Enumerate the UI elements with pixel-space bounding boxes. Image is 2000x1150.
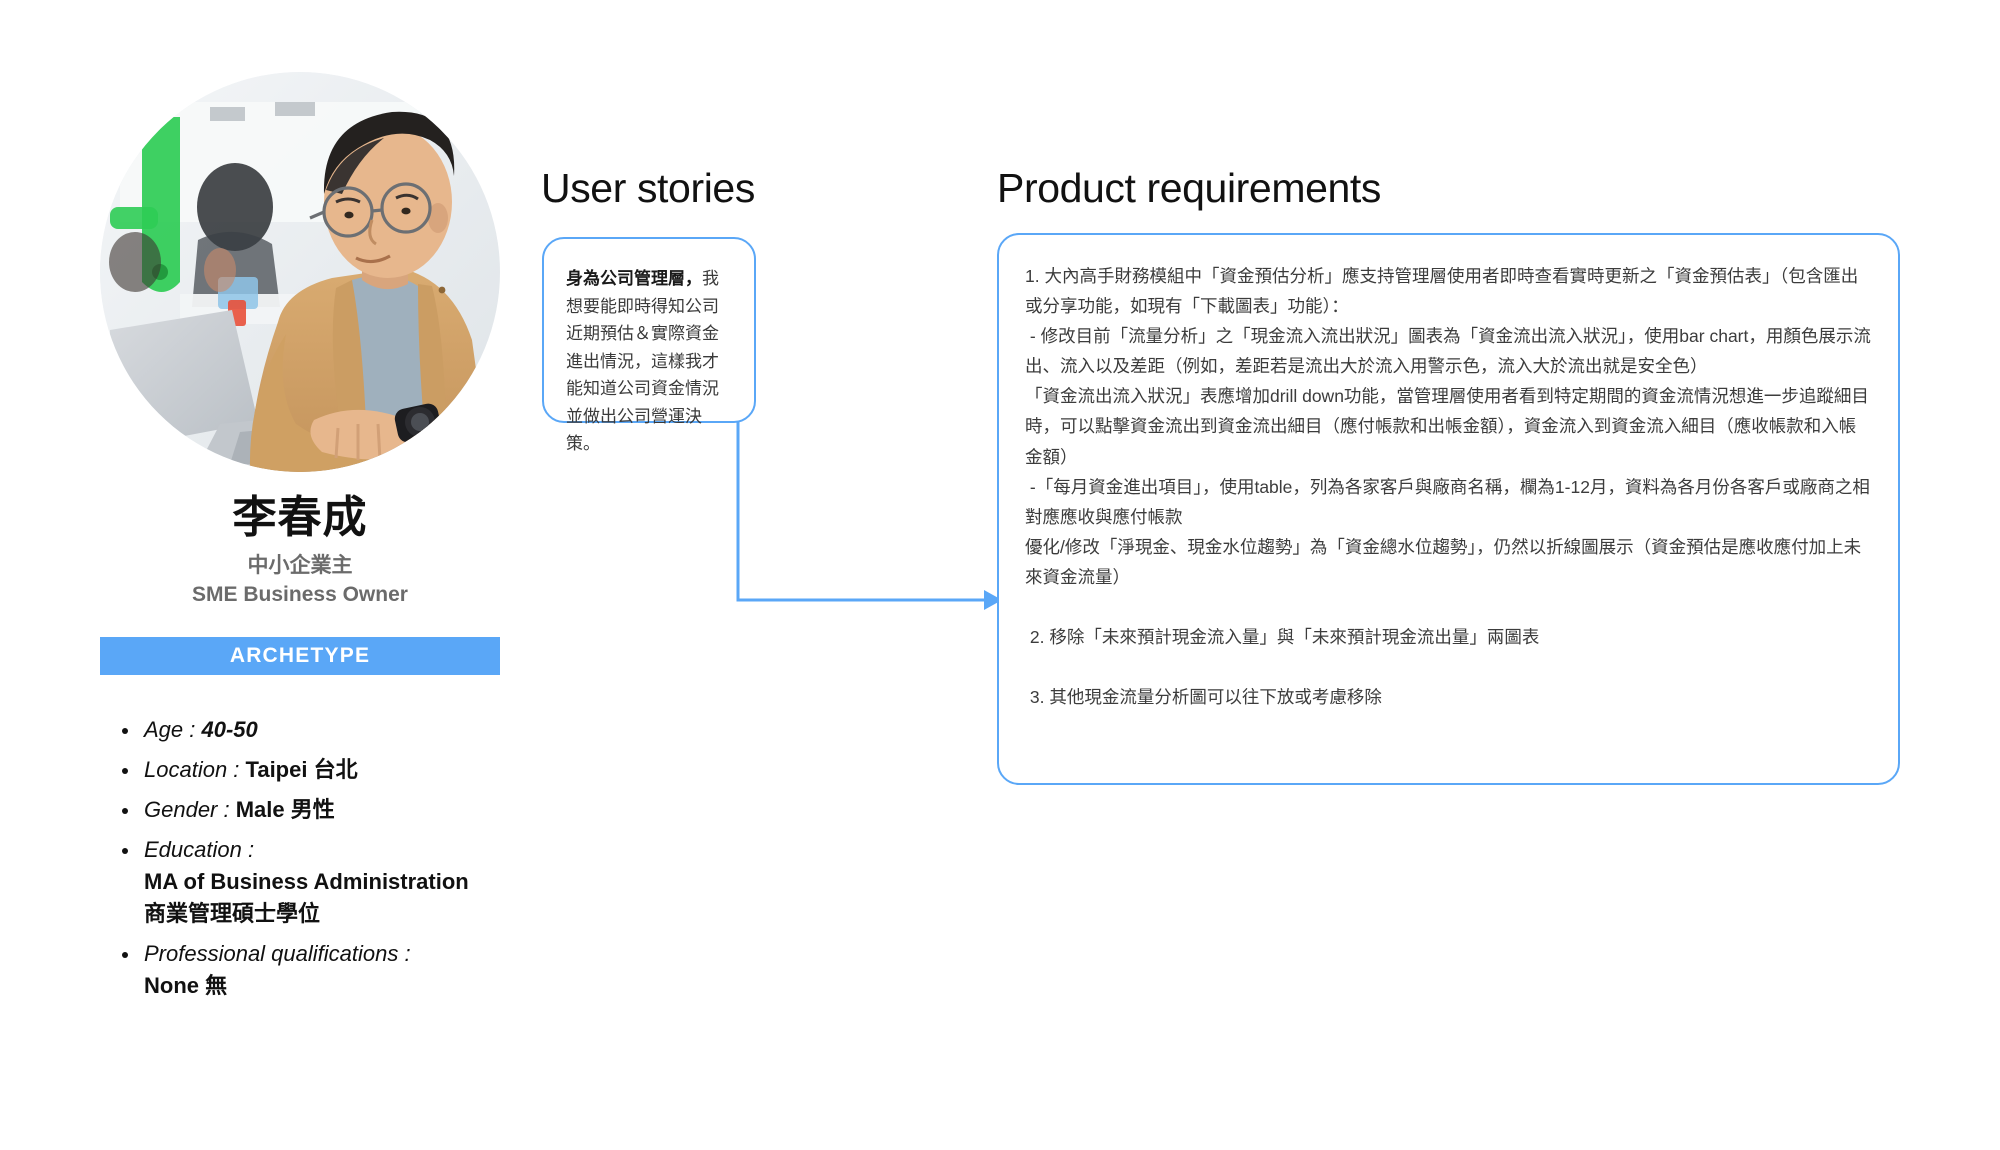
fact-key: Professional qualifications : bbox=[144, 941, 411, 966]
fact-key: Gender : bbox=[144, 797, 230, 822]
fact-key: Education : bbox=[144, 837, 254, 862]
persona-name: 李春成 bbox=[100, 494, 500, 542]
product-requirements-text: 1. 大內高手財務模組中「資金預估分析」應支持管理層使用者即時查看實時更新之「資… bbox=[1025, 261, 1872, 712]
list-item: Location : Taipei 台北 bbox=[118, 755, 500, 784]
list-item: Professional qualifications : None 無 bbox=[118, 939, 500, 1000]
fact-value: Male 男性 bbox=[236, 797, 335, 822]
avatar-photo-icon bbox=[100, 72, 500, 472]
product-requirements-heading: Product requirements bbox=[997, 165, 1381, 212]
persona-role-en: SME Business Owner bbox=[100, 581, 500, 609]
fact-key: Age : bbox=[144, 717, 195, 742]
persona-panel: 李春成 中小企業主 SME Business Owner ARCHETYPE A… bbox=[100, 72, 500, 1022]
fact-value: Taipei 台北 bbox=[246, 757, 358, 782]
user-story-body: 我想要能即時得知公司近期預估＆實際資金進出情況，這樣我才能知道公司資金情況並做出… bbox=[566, 269, 719, 453]
archetype-badge: ARCHETYPE bbox=[100, 637, 500, 675]
list-item: Age : 40-50 bbox=[118, 715, 500, 744]
avatar bbox=[100, 72, 500, 472]
product-requirements-card[interactable]: 1. 大內高手財務模組中「資金預估分析」應支持管理層使用者即時查看實時更新之「資… bbox=[997, 233, 1900, 785]
persona-role-zh: 中小企業主 bbox=[100, 552, 500, 580]
persona-requirements-board: 李春成 中小企業主 SME Business Owner ARCHETYPE A… bbox=[0, 0, 2000, 1150]
user-story-bold-lead: 身為公司管理層， bbox=[566, 269, 702, 288]
list-item: Education : MA of Business Administratio… bbox=[118, 835, 500, 928]
fact-value-line2: 商業管理碩士學位 bbox=[144, 899, 500, 928]
archetype-label: ARCHETYPE bbox=[230, 644, 370, 668]
user-story-card[interactable]: 身為公司管理層，我想要能即時得知公司近期預估＆實際資金進出情況，這樣我才能知道公… bbox=[542, 237, 756, 423]
fact-key: Location : bbox=[144, 757, 239, 782]
fact-value-line1: None 無 bbox=[144, 971, 500, 1000]
fact-value: 40-50 bbox=[202, 717, 258, 742]
user-story-text: 身為公司管理層，我想要能即時得知公司近期預估＆實際資金進出情況，這樣我才能知道公… bbox=[566, 265, 734, 458]
user-stories-heading: User stories bbox=[541, 165, 755, 212]
list-item: Gender : Male 男性 bbox=[118, 795, 500, 824]
fact-value-line1: MA of Business Administration bbox=[144, 867, 500, 896]
persona-facts-list: Age : 40-50 Location : Taipei 台北 Gender … bbox=[118, 715, 500, 1000]
